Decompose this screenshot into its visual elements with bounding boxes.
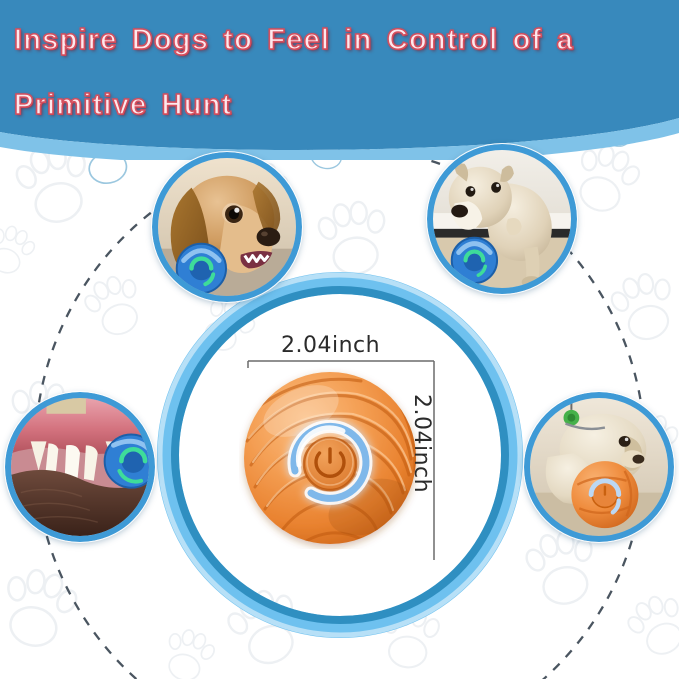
- dachshund-illustration: [158, 158, 296, 296]
- dimension-label-height: 2.04inch: [409, 394, 434, 493]
- golden-retriever-illustration: [530, 398, 668, 536]
- photo-image-area: [11, 398, 149, 536]
- orange-dog-ball[interactable]: [239, 367, 421, 549]
- photo-dog-teeth-closeup[interactable]: [5, 392, 155, 542]
- photo-image-area: [433, 150, 571, 288]
- ball-graphic: [239, 367, 421, 549]
- photo-terrier-pawing-ball[interactable]: [427, 144, 577, 294]
- photo-dachshund-puppy-with-ball[interactable]: [152, 152, 302, 302]
- blue-ball-inset: [452, 238, 497, 283]
- dog-teeth-illustration: [11, 398, 149, 536]
- terrier-illustration: [433, 150, 571, 288]
- blue-ball-inset: [177, 244, 226, 293]
- blue-ball-inset: [105, 434, 149, 487]
- photo-golden-retriever-with-orange-ball[interactable]: [524, 392, 674, 542]
- dimension-label-width: 2.04inch: [281, 333, 380, 358]
- photo-image-area: [158, 158, 296, 296]
- infographic-canvas: Inspire Dogs to Feel in Control of a Pri…: [0, 0, 679, 679]
- photo-image-area: [530, 398, 668, 536]
- orange-ball-inset: [571, 461, 638, 528]
